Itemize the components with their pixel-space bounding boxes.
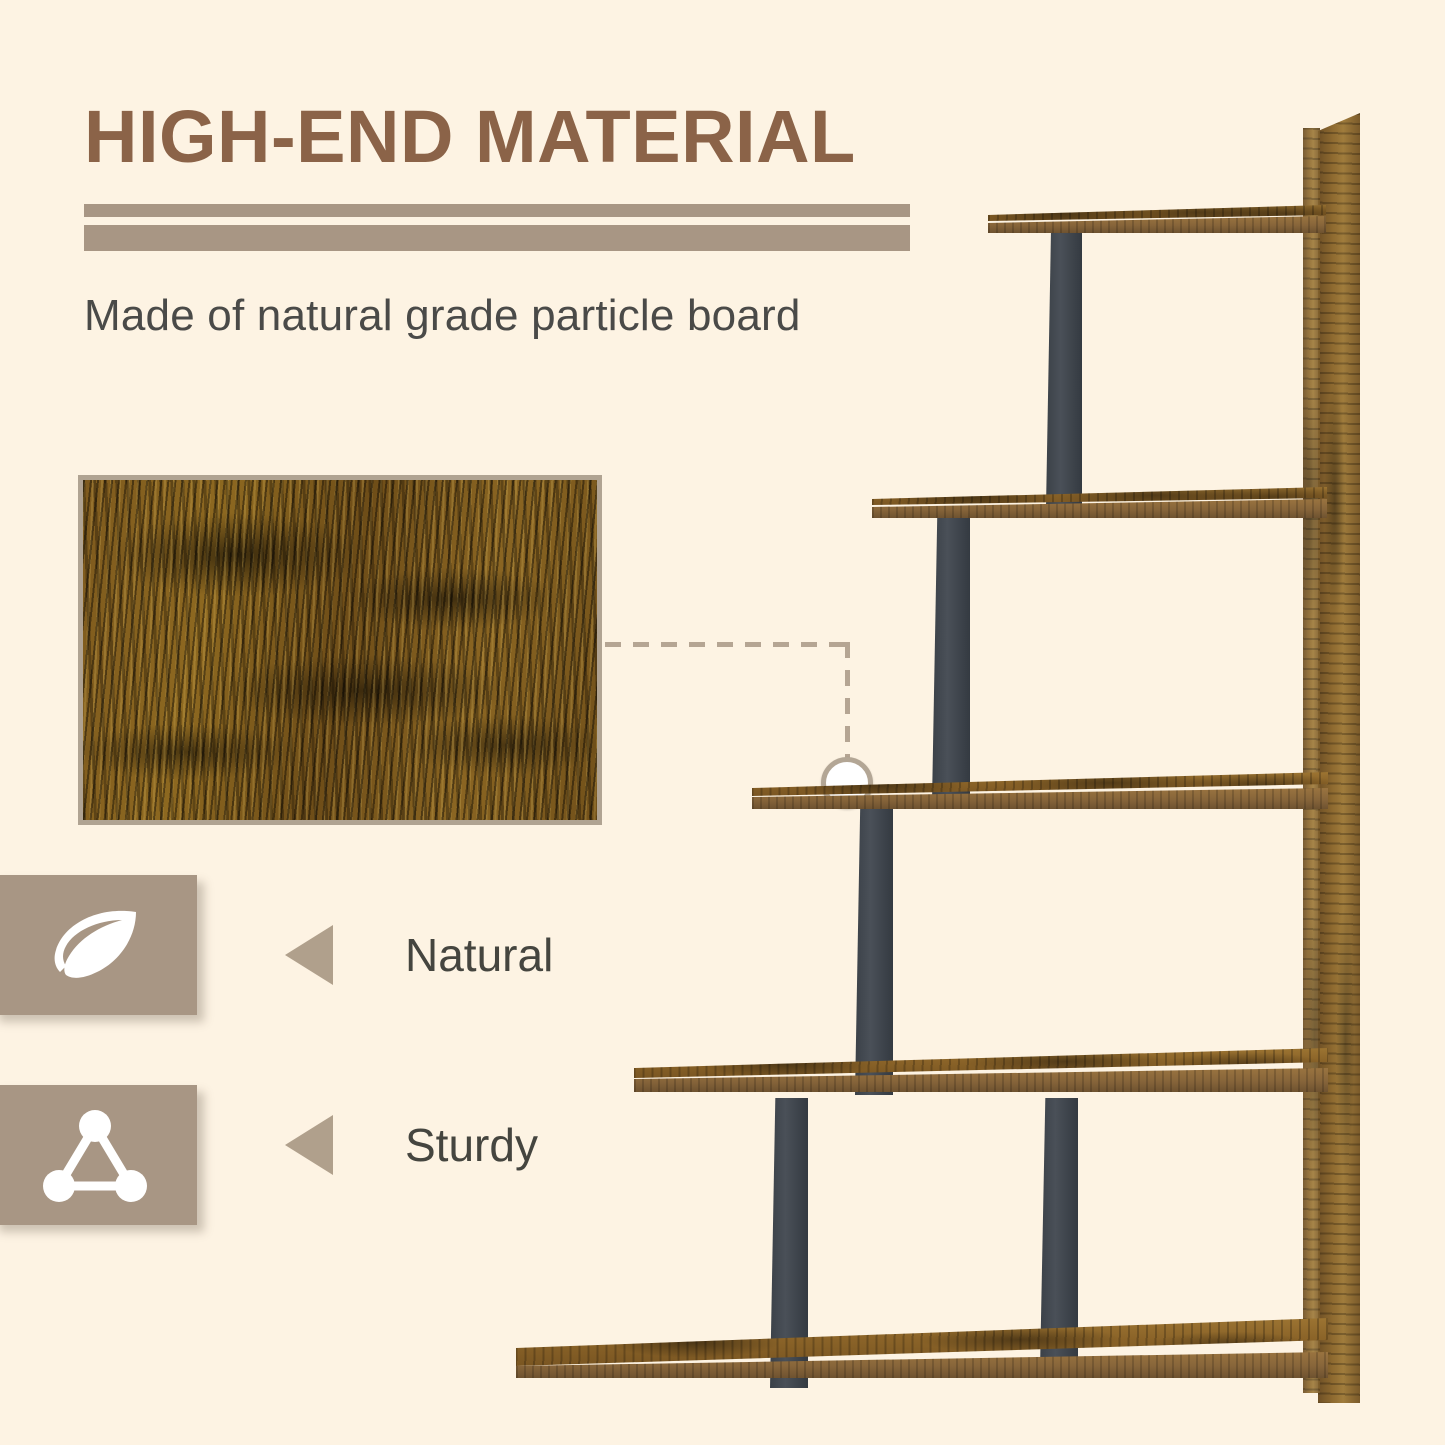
shelf-board-tier4 — [634, 1048, 1328, 1092]
shelf-support-tier1 — [1046, 228, 1082, 508]
shelf-board-tier1 — [988, 205, 1326, 235]
shelf-board-tier3 — [752, 772, 1328, 810]
shelf-board-base — [516, 1318, 1328, 1380]
shelf-support-tier2 — [932, 512, 970, 802]
shelf-board-tier2 — [872, 487, 1327, 519]
ladder-bookshelf — [0, 0, 1445, 1445]
shelf-right-post-inner — [1303, 128, 1320, 1393]
shelf-right-post — [1318, 113, 1360, 1403]
